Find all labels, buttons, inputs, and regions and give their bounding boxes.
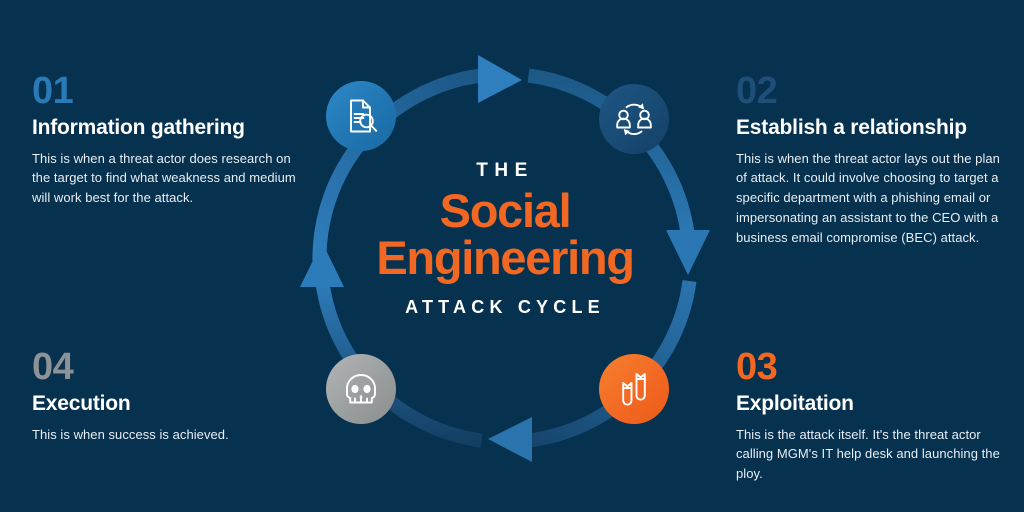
step-icon-bubble-01[interactable] bbox=[326, 81, 396, 151]
step-title-02: Establish a relationship bbox=[736, 116, 1004, 140]
step-number-01: 01 bbox=[32, 72, 300, 110]
center-title-line1: Social bbox=[352, 188, 658, 235]
step-block-03: 03 Exploitation This is the attack itsel… bbox=[736, 348, 1004, 484]
center-subtitle: ATTACK CYCLE bbox=[352, 297, 658, 318]
step-title-03: Exploitation bbox=[736, 392, 1004, 416]
step-title-01: Information gathering bbox=[32, 116, 300, 140]
center-eyebrow: THE bbox=[352, 160, 658, 182]
step-title-04: Execution bbox=[32, 392, 300, 416]
step-number-03: 03 bbox=[736, 348, 1004, 386]
step-description-04: This is when success is achieved. bbox=[32, 425, 300, 445]
step-description-02: This is when the threat actor lays out t… bbox=[736, 149, 1004, 248]
step-block-02: 02 Establish a relationship This is when… bbox=[736, 72, 1004, 247]
center-title-line2: Engineering bbox=[352, 235, 658, 282]
step-icon-bubble-02[interactable] bbox=[599, 84, 669, 154]
step-block-01: 01 Information gathering This is when a … bbox=[32, 72, 300, 208]
step-number-02: 02 bbox=[736, 72, 1004, 110]
step-block-04: 04 Execution This is when success is ach… bbox=[32, 348, 300, 444]
step-icon-bubble-03[interactable] bbox=[599, 354, 669, 424]
step-icon-bubble-04[interactable] bbox=[326, 354, 396, 424]
step-description-01: This is when a threat actor does researc… bbox=[32, 149, 300, 208]
step-number-04: 04 bbox=[32, 348, 300, 386]
center-title-group: THE Social Engineering ATTACK CYCLE bbox=[352, 160, 658, 318]
infographic-canvas: THE Social Engineering ATTACK CYCLE bbox=[0, 0, 1024, 512]
step-description-03: This is the attack itself. It's the thre… bbox=[736, 425, 1004, 484]
